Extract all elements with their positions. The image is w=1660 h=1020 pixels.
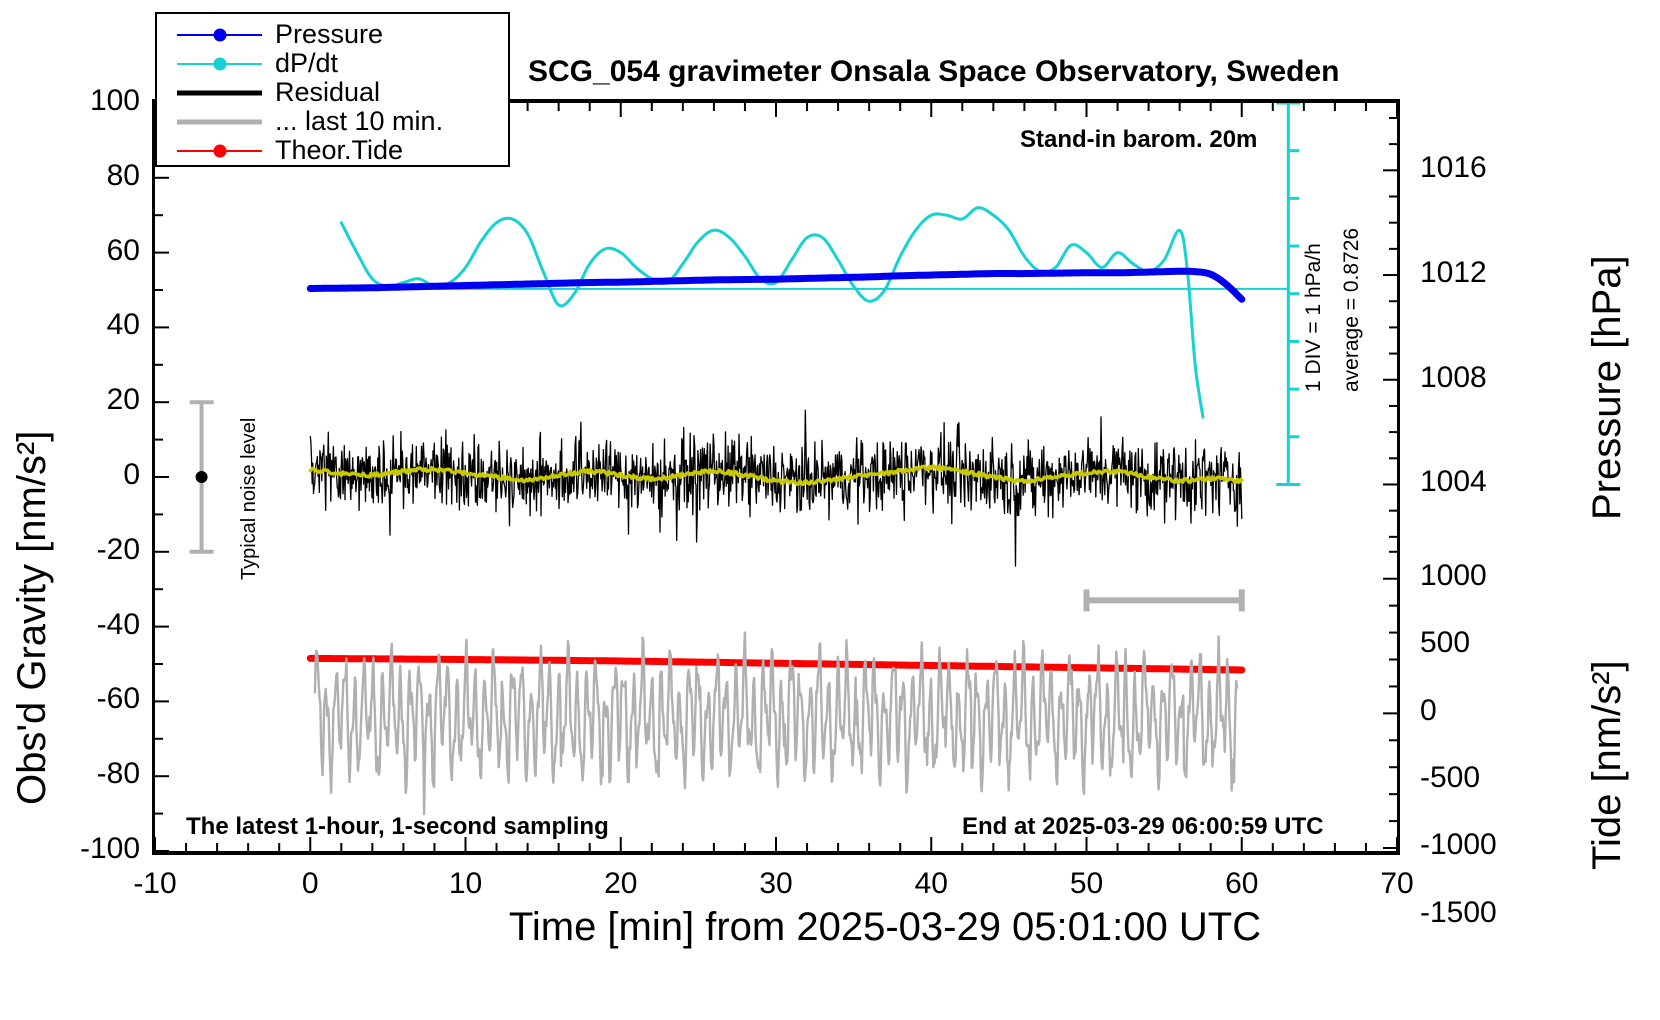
legend-marker-icon <box>213 144 226 157</box>
y-tick-tide--1000: -1000 <box>1420 828 1497 862</box>
legend-swatch-icon <box>177 83 262 103</box>
y-tick-pressure-1012: 1012 <box>1420 256 1487 290</box>
legend-item-label: dP/dt <box>275 48 338 79</box>
legend-swatch-icon <box>177 25 262 45</box>
x-tick-10: 10 <box>449 867 482 901</box>
legend-marker-icon <box>213 57 226 70</box>
y-tick-pressure-1016: 1016 <box>1420 151 1487 185</box>
div-scale-label: 1 DIV = 1 hPa/h <box>1302 243 1326 392</box>
residual-line <box>310 410 1242 566</box>
y-tick-tide--1500: -1500 <box>1420 896 1497 930</box>
pressure-line <box>310 271 1242 299</box>
y-tick-left--100: -100 <box>40 832 140 866</box>
y-tick-tide-0: 0 <box>1420 694 1437 728</box>
y-tick-left-80: 80 <box>40 159 140 193</box>
y-tick-left--40: -40 <box>40 608 140 642</box>
x-tick-60: 60 <box>1225 867 1258 901</box>
y-tick-pressure-1008: 1008 <box>1420 361 1487 395</box>
y-axis-pressure-title: Pressure [hPa] <box>1585 255 1630 520</box>
legend-item-label: Residual <box>275 77 380 108</box>
legend-swatch-icon <box>177 112 262 132</box>
end-time-label: End at 2025-03-29 06:00:59 UTC <box>962 813 1324 841</box>
x-tick-30: 30 <box>759 867 792 901</box>
y-tick-tide-500: 500 <box>1420 626 1470 660</box>
y-tick-tide-1000: 1000 <box>1420 559 1487 593</box>
y-tick-left-60: 60 <box>40 234 140 268</box>
x-tick-70: 70 <box>1380 867 1413 901</box>
legend-item-last-10-min[interactable]: ... last 10 min. <box>157 107 508 136</box>
x-tick-0: 0 <box>302 867 319 901</box>
standin-barom-label: Stand-in barom. 20m <box>1020 126 1257 154</box>
legend-marker-icon <box>213 28 226 41</box>
y-tick-left--20: -20 <box>40 533 140 567</box>
plot-canvas <box>155 103 1397 851</box>
legend-item-label: ... last 10 min. <box>275 106 443 137</box>
y-tick-pressure-1004: 1004 <box>1420 465 1487 499</box>
typical-noise-label: Typical noise level <box>238 418 261 580</box>
legend-item-residual[interactable]: Residual <box>157 78 508 107</box>
y-tick-left-20: 20 <box>40 383 140 417</box>
legend-item-label: Theor.Tide <box>275 135 403 166</box>
legend-swatch-icon <box>177 54 262 74</box>
legend[interactable]: PressuredP/dtResidual... last 10 min.The… <box>155 12 510 167</box>
y-axis-tide-title: Tide [nm/s²] <box>1585 660 1630 870</box>
x-axis-title: Time [min] from 2025-03-29 05:01:00 UTC <box>0 905 1660 950</box>
tide-line <box>310 658 1242 670</box>
legend-item-theor-tide[interactable]: Theor.Tide <box>157 136 508 165</box>
legend-item-dp-dt[interactable]: dP/dt <box>157 49 508 78</box>
legend-item-pressure[interactable]: Pressure <box>157 20 508 49</box>
x-tick--10: -10 <box>133 867 176 901</box>
legend-swatch-icon <box>177 141 262 161</box>
legend-item-label: Pressure <box>275 19 383 50</box>
x-tick-20: 20 <box>604 867 637 901</box>
average-label: average = 0.8726 <box>1340 228 1364 392</box>
dpdt-line <box>341 208 1203 418</box>
x-tick-40: 40 <box>915 867 948 901</box>
y-tick-tide--500: -500 <box>1420 761 1480 795</box>
chart-title: SCG_054 gravimeter Onsala Space Observat… <box>528 55 1340 89</box>
plot-area <box>152 99 1400 855</box>
y-tick-left--60: -60 <box>40 682 140 716</box>
y-tick-left-40: 40 <box>40 308 140 342</box>
x-axis-title-text: Time [min] from 2025-03-29 05:01:00 UTC <box>509 905 1261 949</box>
y-tick-left-0: 0 <box>40 458 140 492</box>
sampling-label: The latest 1-hour, 1-second sampling <box>186 813 609 841</box>
y-tick-left-100: 100 <box>40 84 140 118</box>
noise-center-dot <box>196 471 208 483</box>
y-tick-left--80: -80 <box>40 757 140 791</box>
x-tick-50: 50 <box>1070 867 1103 901</box>
chart-svg <box>155 103 1397 851</box>
